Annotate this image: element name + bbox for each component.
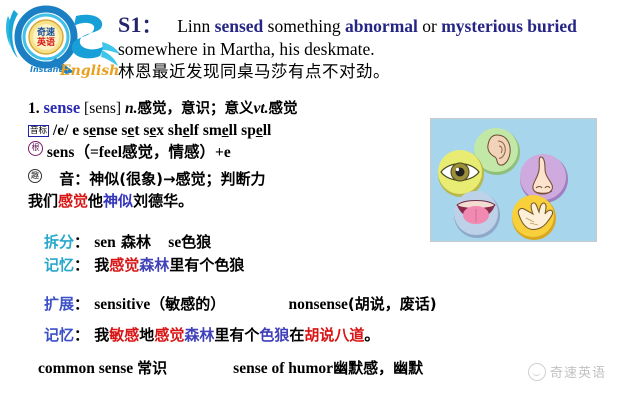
keyword-sensed: sensed (215, 16, 264, 36)
expand-mem-wolf: 色狼 (259, 326, 289, 344)
phonetic-word-6: spell (241, 122, 271, 139)
expand-mem-a: 我 (94, 326, 109, 344)
keyword-mysterious-buried: mysterious buried (441, 16, 577, 36)
expand-word-2: nonsense (288, 296, 347, 313)
phrase-2-en: sense of humor (233, 360, 333, 377)
phonetic-word-3: sex (143, 122, 164, 139)
phrase-1-en: common sense (38, 360, 133, 377)
expand-word-1: sensitive (94, 296, 150, 313)
header-line-1: S1： Linn sensed something abnormal or my… (118, 14, 630, 38)
split-memory-colon: ： (74, 256, 89, 274)
split-mem-forest: 森林 (139, 256, 169, 274)
entry-definition-line: 1. sense [sens] n.感觉，意识；意义vt.感觉 (28, 97, 428, 120)
svg-text:English: English (59, 63, 119, 79)
entry-number: 1. (28, 100, 40, 117)
phonetic-word-1: sense (83, 122, 117, 139)
svg-text:奇速: 奇速 (37, 26, 55, 38)
expand-colon: ： (74, 295, 89, 313)
expand-memory-label: 记忆 (44, 326, 74, 344)
expand-mem-nonsense: 胡说八道 (304, 326, 364, 344)
watermark-logo-icon (528, 363, 546, 381)
fun-arrow: → (163, 170, 176, 188)
fun-sentence-line: 我们感觉他神似刘德华。 (28, 190, 428, 212)
split-part1-cn: 森林 (121, 233, 151, 251)
split-part2-en: se (168, 234, 181, 251)
split-label: 拆分 (44, 233, 74, 251)
word-entry: 1. sense [sens] n.感觉，意识；意义vt.感觉 音标 /e/ e… (28, 97, 428, 163)
entry-root-line: 根 sens（=feel感觉，情感）+e (28, 141, 428, 163)
fun-sent-feel: 感觉 (58, 192, 88, 210)
split-part2-cn: 色狼 (181, 233, 211, 251)
expand-mem-b: 地 (139, 326, 154, 344)
entry-root-text: sens（=feel感觉，情感）+e (47, 144, 231, 161)
phrases-line: common sense 常识 sense of humor幽默感，幽默 (38, 357, 518, 378)
watermark-text: 奇速英语 (550, 362, 606, 381)
split-memory-line: 记忆： 我感觉森林里有个色狼 (44, 254, 444, 276)
expand-line: 扩展： sensitive（敏感的） nonsense(胡说，废话) (44, 293, 484, 316)
entry-def-noun: 感觉，意识；意义 (137, 101, 253, 117)
split-mem-a: 我 (94, 256, 109, 274)
fun-mnemonic-block: 趣 音：神似(很象)→感觉；判断力 我们感觉他神似刘德华。 (28, 168, 428, 212)
fun-chain-line: 趣 音：神似(很象)→感觉；判断力 (28, 168, 428, 190)
root-tag-badge: 根 (28, 141, 43, 156)
svg-text:Instant: Instant (30, 65, 63, 74)
keyword-abnormal: abnormal (345, 16, 418, 36)
expand-label: 扩展 (44, 295, 74, 313)
split-memory-block: 拆分： sen 森林 se色狼 记忆： 我感觉森林里有个色狼 (44, 231, 444, 276)
entry-pos-noun: n. (125, 100, 138, 117)
watermark: 奇速英语 (528, 362, 606, 381)
expand-mem-end: 。 (364, 326, 379, 344)
fun-sent-c: 刘德华。 (133, 192, 193, 210)
entry-headword: sense (44, 98, 81, 117)
expand-mem-sensitive: 敏感 (109, 326, 139, 344)
split-part1-en: sen (94, 234, 116, 251)
sentence-tag: S1 (118, 12, 142, 37)
sentence-tag-colon: ： (142, 16, 161, 37)
expand-memory-line: 记忆： 我敏感地感觉森林里有个色狼在胡说八道。 (44, 324, 484, 346)
phonetic-tag-badge: 音标 (28, 125, 49, 137)
fun-label: 音： (59, 170, 89, 188)
fun-sent-like: 神似 (103, 192, 133, 210)
split-line: 拆分： sen 森林 se色狼 (44, 231, 444, 254)
split-colon: ： (74, 233, 89, 251)
entry-def-verb: 感觉 (269, 101, 298, 117)
slide-header: S1： Linn sensed something abnormal or my… (118, 14, 630, 83)
header-text-a: Linn (177, 16, 214, 36)
split-mem-feel: 感觉 (109, 256, 139, 274)
header-text-c: or (418, 16, 441, 36)
phrase-1-cn: 常识 (137, 359, 167, 377)
fun-chain-a: 神似(很象) (89, 170, 163, 188)
split-mem-b: 里有个色狼 (169, 256, 244, 274)
expand-memory-block: 扩展： sensitive（敏感的） nonsense(胡说，废话) 记忆： 我… (44, 293, 484, 346)
split-memory-label: 记忆 (44, 256, 74, 274)
five-senses-image (430, 118, 597, 242)
expand-mem-forest: 森林 (184, 326, 214, 344)
expand-word-2-cn: (胡说，废话) (348, 295, 437, 313)
brand-logo: 奇速 英语 Instant English (4, 2, 124, 80)
phonetic-word-4: shelf (168, 122, 199, 139)
phonetic-rule: /e/ e (53, 122, 79, 139)
entry-phonetic-line: 音标 /e/ e sense set sex shelf smell spell (28, 120, 428, 141)
phonetic-word-2: set (121, 122, 139, 139)
five-senses-artwork (431, 119, 596, 241)
entry-pos-verb: vt. (253, 100, 268, 117)
logo-artwork: 奇速 英语 Instant English (4, 2, 124, 80)
header-text-b: something (263, 16, 345, 36)
expand-mem-d: 在 (289, 326, 304, 344)
svg-text:英语: 英语 (36, 36, 55, 48)
fun-chain-b: 感觉；判断力 (176, 170, 266, 188)
expand-mem-c: 里有个 (214, 326, 259, 344)
expand-mem-feel: 感觉 (154, 326, 184, 344)
expand-word-1-cn: （敏感的） (150, 295, 225, 313)
header-line-2: somewhere in Martha, his deskmate. (118, 38, 630, 60)
fun-sent-a: 我们 (28, 192, 58, 210)
entry-ipa: [sens] (84, 100, 121, 117)
fun-tag-badge: 趣 (28, 169, 42, 183)
expand-memory-colon: ： (74, 326, 89, 344)
phonetic-word-5: smell (203, 122, 237, 139)
fun-sent-b: 他 (88, 192, 103, 210)
header-line-3-translation: 林恩最近发现同桌马莎有点不对劲。 (118, 60, 630, 83)
phrase-2-cn: 幽默感，幽默 (333, 359, 423, 377)
